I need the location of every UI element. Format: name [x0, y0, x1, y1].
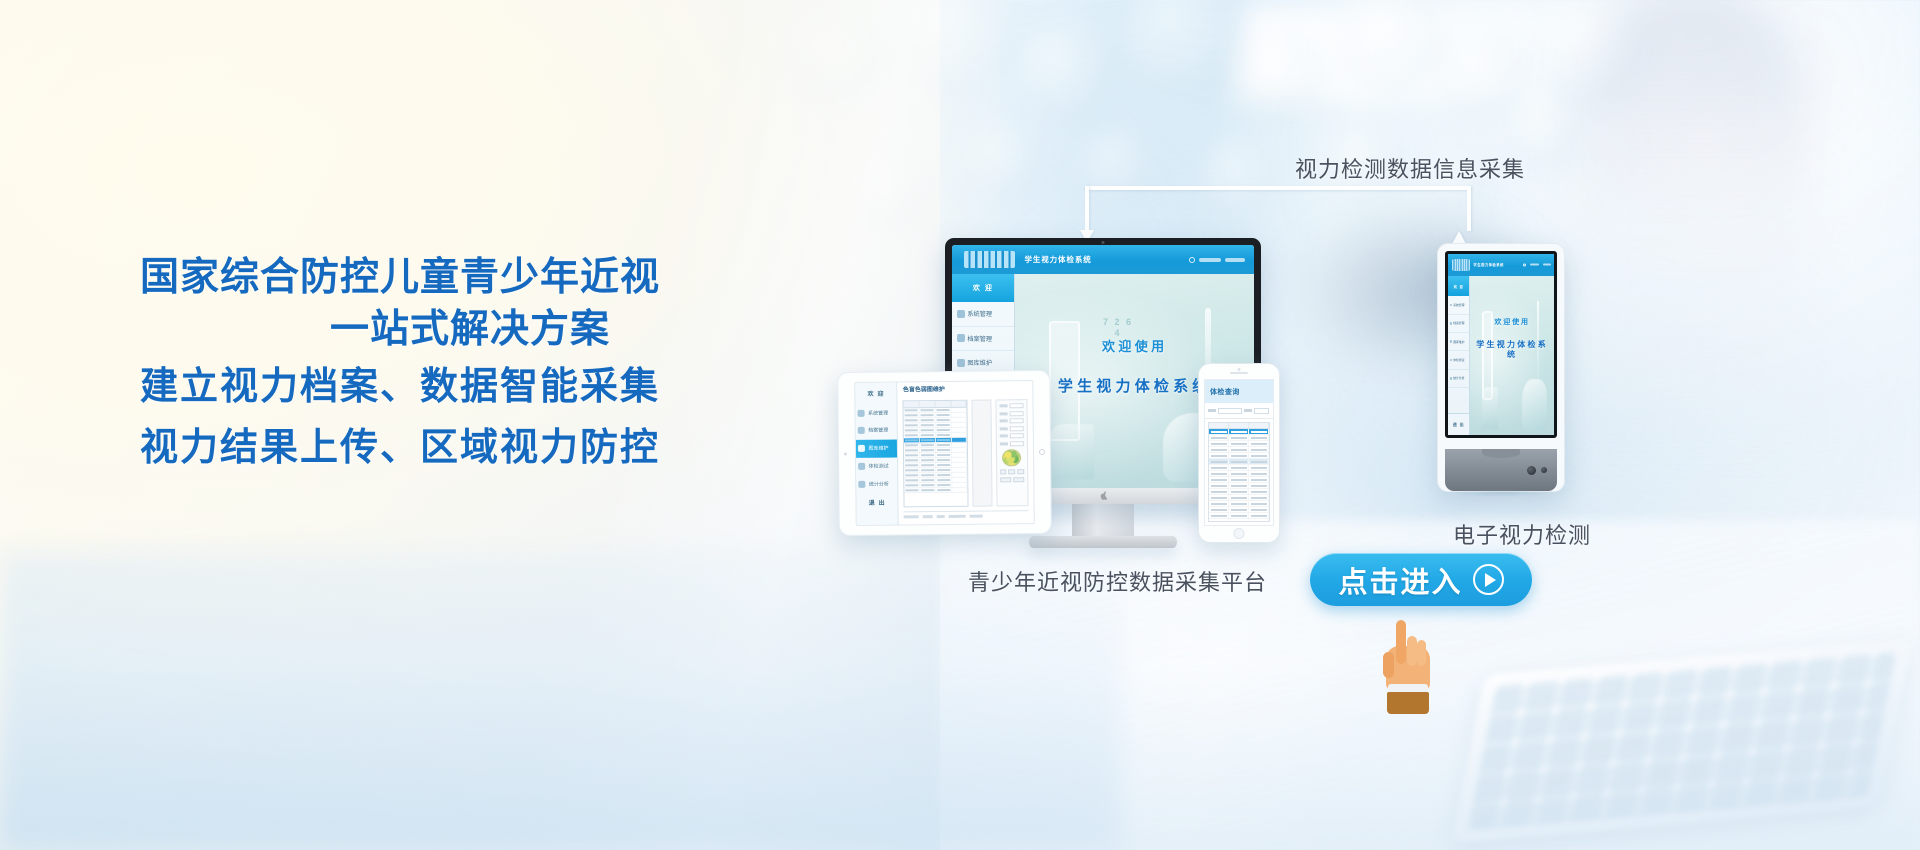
sidebar-item-stats[interactable]: 统计分析 [1448, 370, 1469, 388]
sidebar-item-label: 体检测试 [869, 463, 889, 470]
sidebar-item-label: 系统管理 [868, 409, 888, 416]
kiosk-base [1445, 449, 1557, 491]
sidebar-item-label: 图库维护 [868, 445, 888, 452]
sidebar-item-gallery[interactable]: 图库维护 [856, 439, 898, 457]
sidebar-welcome: 欢 迎 [855, 382, 897, 404]
form-buttons[interactable] [1000, 469, 1024, 474]
desktop-app-header: 学生视力体检系统 [952, 245, 1254, 274]
preview-panel [972, 400, 993, 507]
sidebar-item-archive[interactable]: 档案管理 [952, 327, 1014, 352]
kiosk-app-body: 欢迎使用 学生视力体检系统 [1470, 276, 1554, 435]
welcome-title-1: 欢迎使用 [1015, 336, 1254, 355]
tablet-device: 欢 迎 系统管理 档案管理 图库维护 体检测试 统计分析 退 出 色盲色弱图维护 [837, 370, 1052, 536]
kiosk-screen: 学生视力体检系统 欢 迎 系统管理 档案管理 图库维护 体检测试 统计 [1445, 251, 1557, 438]
sidebar-exit-button[interactable]: 退 出 [1448, 413, 1469, 435]
sidebar-item-label: 图库维护 [1453, 340, 1464, 344]
sidebar-item-label: 系统管理 [1453, 303, 1464, 307]
monitor-stand-foot [1029, 536, 1177, 548]
logo-mark [1452, 259, 1470, 272]
headline-line-3: 建立视力档案、数据智能采集 [0, 356, 800, 419]
apple-logo-icon [1099, 491, 1108, 501]
home-button-icon[interactable] [1039, 449, 1045, 455]
sidebar-item-gallery[interactable]: 图库维护 [1448, 333, 1469, 351]
kiosk-app-account[interactable] [1523, 263, 1551, 266]
earpiece-speaker [1230, 372, 1248, 374]
headline-line-4: 视力结果上传、区域视力防控 [0, 419, 800, 477]
headline-line-1: 国家综合防控儿童青少年近视 [0, 252, 800, 304]
webcam-icon [1102, 241, 1105, 244]
account-label [1199, 258, 1221, 262]
table-row[interactable] [905, 488, 968, 494]
grid-footer [904, 510, 1029, 523]
sidebar-item-system[interactable]: 系统管理 [952, 302, 1014, 327]
welcome-canvas: 欢迎使用 学生视力体检系统 [1470, 276, 1554, 435]
front-camera-icon [1238, 368, 1241, 371]
sidebar-item-system[interactable]: 系统管理 [1448, 296, 1469, 314]
sidebar-item-label: 档案管理 [1453, 321, 1464, 325]
user-icon [1523, 263, 1526, 266]
phone-result-table[interactable] [1208, 422, 1270, 522]
logout-label[interactable] [1225, 258, 1245, 262]
logo-mark [964, 251, 1015, 268]
desktop-app-account[interactable] [1189, 257, 1245, 263]
chart-clock-icon [1450, 377, 1453, 380]
connector-left-line [1085, 186, 1089, 231]
sensor-lens-icon [1541, 467, 1547, 473]
sidebar-item-label: 体检测试 [1453, 358, 1464, 362]
play-arrow-icon [1473, 564, 1504, 595]
kiosk-app-title: 学生视力体检系统 [1473, 262, 1503, 267]
enter-button[interactable]: 点击进入 [1310, 553, 1532, 606]
phone-device: 体检查询 [1198, 363, 1280, 543]
sidebar-item-exam[interactable]: 体检测试 [1448, 351, 1469, 369]
exam-equipment-graphic [1522, 379, 1547, 430]
caption-device: 电子视力检测 [1453, 518, 1591, 550]
form-buttons-2[interactable] [1000, 477, 1024, 482]
kiosk-device: 学生视力体检系统 欢 迎 系统管理 档案管理 图库维护 体检测试 统计 [1437, 243, 1565, 492]
banner-stage: 国家综合防控儿童青少年近视 一站式解决方案 建立视力档案、数据智能采集 视力结果… [0, 0, 1920, 850]
desktop-app-title: 学生视力体检系统 [1024, 254, 1091, 265]
ishihara-plate-icon [1002, 449, 1021, 466]
tablet-main: 色盲色弱图维护 [898, 381, 1034, 524]
user-gear-icon [957, 310, 965, 318]
sidebar-item-exam[interactable]: 体检测试 [856, 457, 898, 475]
page-title: 色盲色弱图维护 [898, 381, 1033, 401]
caption-data-collection: 视力检测数据信息采集 [1295, 152, 1525, 184]
folder-icon [1450, 322, 1453, 325]
sidebar-item-label: 系统管理 [967, 309, 992, 318]
tablet-sidebar: 欢 迎 系统管理 档案管理 图库维护 体检测试 统计分析 退 出 [855, 382, 899, 524]
home-button-icon[interactable] [1234, 528, 1245, 539]
detail-form[interactable] [995, 400, 1028, 507]
eye-test-icon [1450, 359, 1453, 362]
folder-icon [957, 334, 965, 342]
monitor-stand-neck [1072, 500, 1134, 540]
exam-chair-graphic [1482, 387, 1498, 428]
camera-lens-icon [1527, 466, 1536, 475]
kiosk-app: 学生视力体检系统 欢 迎 系统管理 档案管理 图库维护 体检测试 统计 [1448, 254, 1554, 435]
phone-body: 体检查询 [1198, 363, 1280, 543]
image-icon [1450, 340, 1453, 343]
table-row[interactable] [1209, 519, 1269, 522]
tablet-body: 欢 迎 系统管理 档案管理 图库维护 体检测试 统计分析 退 出 色盲色弱图维护 [837, 370, 1052, 536]
connector-right-line [1467, 186, 1471, 231]
kiosk-app-header: 学生视力体检系统 [1448, 254, 1554, 276]
welcome-title-1: 欢迎使用 [1470, 317, 1554, 327]
kiosk-body: 学生视力体检系统 欢 迎 系统管理 档案管理 图库维护 体检测试 统计 [1437, 243, 1565, 492]
sidebar-exit-button[interactable]: 退 出 [856, 493, 898, 512]
kiosk-shadow [1453, 489, 1549, 497]
enter-button-label: 点击进入 [1338, 559, 1462, 601]
pointing-hand-icon [1381, 622, 1435, 716]
tablet-screen: 欢 迎 系统管理 档案管理 图库维护 体检测试 统计分析 退 出 色盲色弱图维护 [854, 380, 1034, 526]
sidebar-item-stats[interactable]: 统计分析 [856, 475, 898, 493]
image-icon [858, 445, 865, 452]
user-gear-icon [858, 410, 865, 417]
phone-page-title: 体检查询 [1205, 380, 1273, 403]
chart-clock-icon [859, 480, 866, 487]
kiosk-sidebar: 欢 迎 系统管理 档案管理 图库维护 体检测试 统计分析 退 出 [1448, 276, 1470, 435]
sidebar-welcome: 欢 迎 [1448, 276, 1469, 297]
headline-block: 国家综合防控儿童青少年近视 一站式解决方案 建立视力档案、数据智能采集 视力结果… [0, 252, 800, 477]
sidebar-item-system[interactable]: 系统管理 [855, 404, 897, 422]
data-grid[interactable] [903, 400, 969, 507]
eye-test-icon [859, 463, 866, 470]
sidebar-item-label: 档案管理 [967, 334, 992, 343]
sidebar-item-label: 统计分析 [869, 480, 889, 487]
sidebar-welcome: 欢 迎 [952, 274, 1014, 302]
connector-horizontal-line [1085, 186, 1471, 190]
caption-platform: 青少年近视防控数据采集平台 [968, 565, 1267, 597]
phone-filter-bar[interactable] [1205, 403, 1273, 419]
logout-label[interactable] [1543, 264, 1551, 266]
tablet-content-columns [903, 400, 1029, 508]
exam-chair-graphic [1049, 424, 1094, 480]
phone-screen: 体检查询 [1204, 379, 1274, 526]
account-label [1530, 264, 1539, 266]
image-icon [957, 359, 965, 367]
sidebar-item-archive[interactable]: 档案管理 [1448, 315, 1469, 333]
sidebar-item-label: 统计分析 [1453, 376, 1464, 380]
sidebar-item-label: 档案管理 [868, 427, 888, 434]
folder-icon [858, 427, 865, 434]
sidebar-item-label: 图库维护 [967, 358, 992, 367]
welcome-title-2: 学生视力体检系统 [1470, 340, 1554, 361]
user-icon [1189, 257, 1195, 263]
headline-line-2: 一站式解决方案 [0, 304, 800, 356]
sidebar-item-archive[interactable]: 档案管理 [856, 422, 898, 440]
user-gear-icon [1450, 304, 1453, 307]
front-camera-icon [844, 453, 847, 456]
tablet-app: 欢 迎 系统管理 档案管理 图库维护 体检测试 统计分析 退 出 色盲色弱图维护 [855, 381, 1033, 525]
